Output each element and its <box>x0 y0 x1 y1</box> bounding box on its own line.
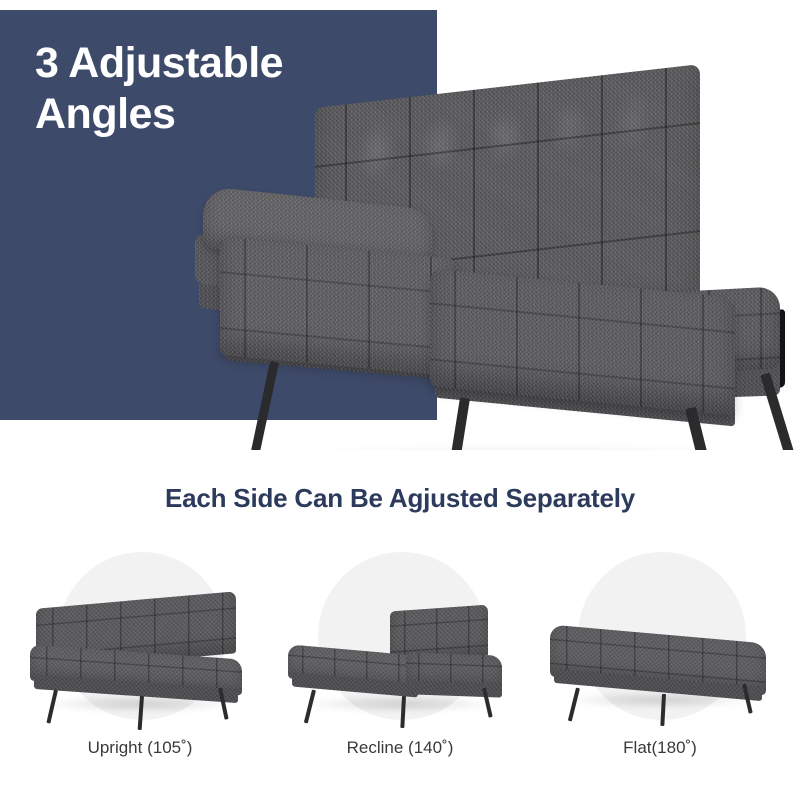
hero-section: 3 Adjustable Angles <box>0 0 800 450</box>
thumbnail-flat <box>538 578 782 728</box>
tile-caption: Recline (140˚) <box>270 738 530 758</box>
thumbnail-upright <box>18 578 262 728</box>
tile-caption: Upright (105˚) <box>10 738 270 758</box>
product-infographic: 3 Adjustable Angles <box>0 0 800 800</box>
tile-caption: Flat(180˚) <box>530 738 790 758</box>
sofa-seat-left <box>220 237 460 377</box>
floor-shadow <box>245 448 800 450</box>
mode-tile-recline: Recline (140˚) <box>270 540 530 780</box>
mode-tile-upright: Upright (105˚) <box>10 540 270 780</box>
main-product-image <box>185 78 785 443</box>
section-subtitle: Each Side Can Be Agjusted Separately <box>0 483 800 514</box>
sofa-leg <box>251 361 279 450</box>
thumbnail-recline <box>278 578 522 728</box>
mode-tile-flat: Flat(180˚) <box>530 540 790 780</box>
sofa-leg <box>445 397 470 450</box>
mode-tiles: Upright (105˚) <box>0 540 800 780</box>
